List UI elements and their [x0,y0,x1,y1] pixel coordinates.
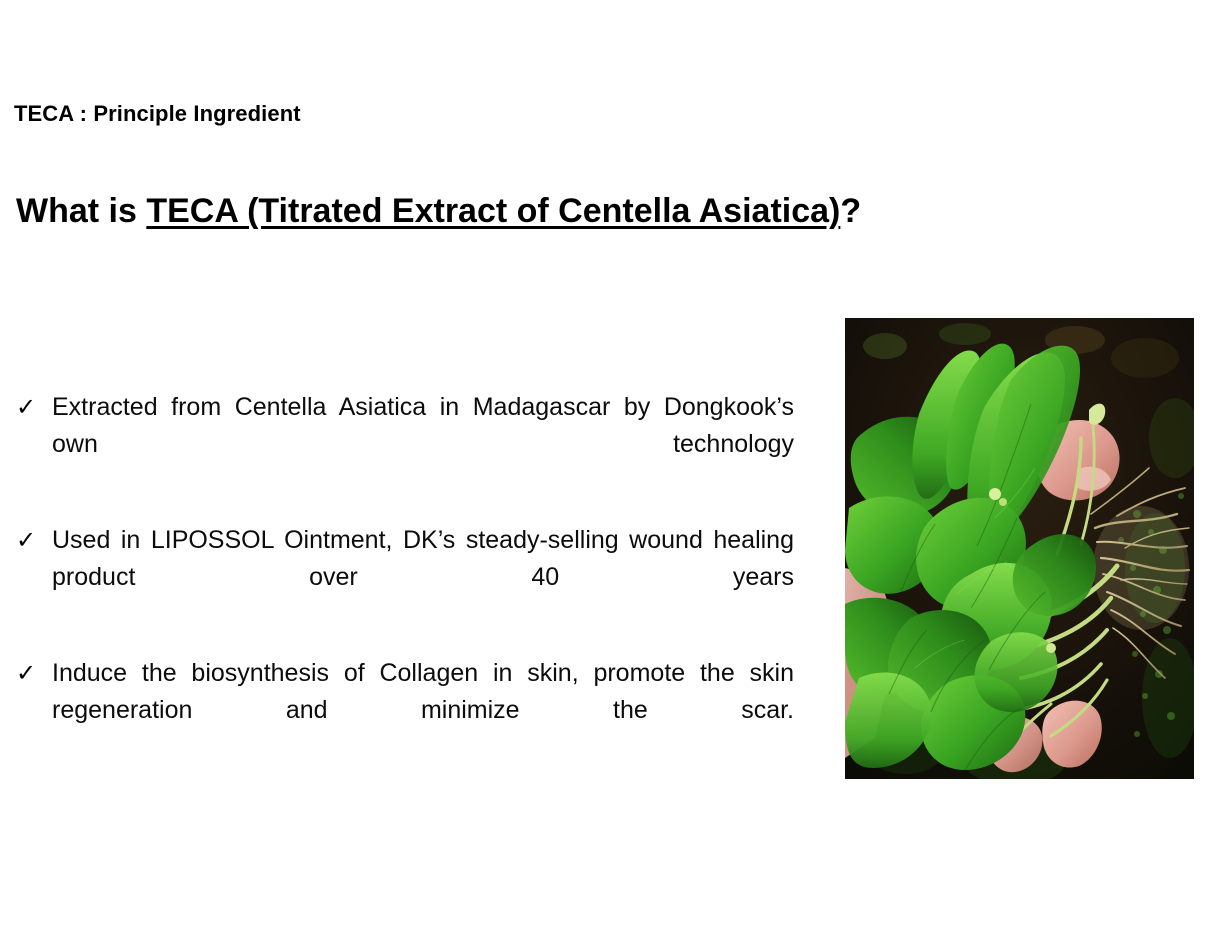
photo-illustration [845,318,1194,779]
list-item-text: Extracted from Centella Asiatica in Mada… [52,389,794,500]
bullet-list: ✓ Extracted from Centella Asiatica in Ma… [16,389,794,766]
list-item: ✓ Induce the biosynthesis of Collagen in… [16,655,794,766]
list-item-text: Used in LIPOSSOL Ointment, DK’s steady-s… [52,522,794,633]
slide-canvas: TECA : Principle Ingredient What is TECA… [0,0,1210,936]
page-title: What is TECA (Titrated Extract of Centel… [16,189,861,233]
heading-emphasis: TECA (Titrated Extract of Centella Asiat… [146,192,840,230]
list-item: ✓ Used in LIPOSSOL Ointment, DK’s steady… [16,522,794,633]
checkmark-icon: ✓ [16,522,36,559]
heading-prefix: What is [16,192,146,230]
heading-suffix: ? [840,192,861,230]
section-kicker: TECA : Principle Ingredient [14,100,301,128]
checkmark-icon: ✓ [16,655,36,692]
list-item: ✓ Extracted from Centella Asiatica in Ma… [16,389,794,500]
list-item-text: Induce the biosynthesis of Collagen in s… [52,655,794,766]
centella-asiatica-photo [845,318,1194,779]
checkmark-icon: ✓ [16,389,36,426]
